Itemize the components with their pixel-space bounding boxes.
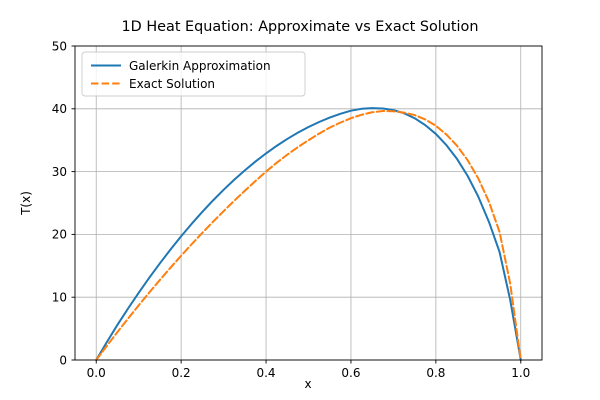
chart-figure: 1D Heat Equation: Approximate vs Exact S… <box>0 0 600 400</box>
y-tick-label: 30 <box>52 165 67 179</box>
y-tick-label: 40 <box>52 102 67 116</box>
chart-legend[interactable]: Galerkin ApproximationExact Solution <box>82 52 305 96</box>
y-tick-label: 0 <box>59 353 67 367</box>
x-tick-label: 0.6 <box>341 366 360 380</box>
x-tick-label: 0.4 <box>256 366 275 380</box>
x-tick-label: 0.8 <box>426 366 445 380</box>
y-axis-label: T(x) <box>19 191 33 216</box>
x-tick-label: 0.2 <box>172 366 191 380</box>
x-tick-label: 0.0 <box>87 366 106 380</box>
chart-title: 1D Heat Equation: Approximate vs Exact S… <box>122 19 479 35</box>
y-tick-label: 20 <box>52 228 67 242</box>
legend-label: Exact Solution <box>129 77 215 91</box>
x-axis-label: x <box>304 377 311 391</box>
chart-canvas: 1D Heat Equation: Approximate vs Exact S… <box>0 0 600 400</box>
y-tick-label: 50 <box>52 39 67 53</box>
legend-label: Galerkin Approximation <box>129 59 271 73</box>
x-tick-label: 1.0 <box>511 366 530 380</box>
y-tick-label: 10 <box>52 291 67 305</box>
